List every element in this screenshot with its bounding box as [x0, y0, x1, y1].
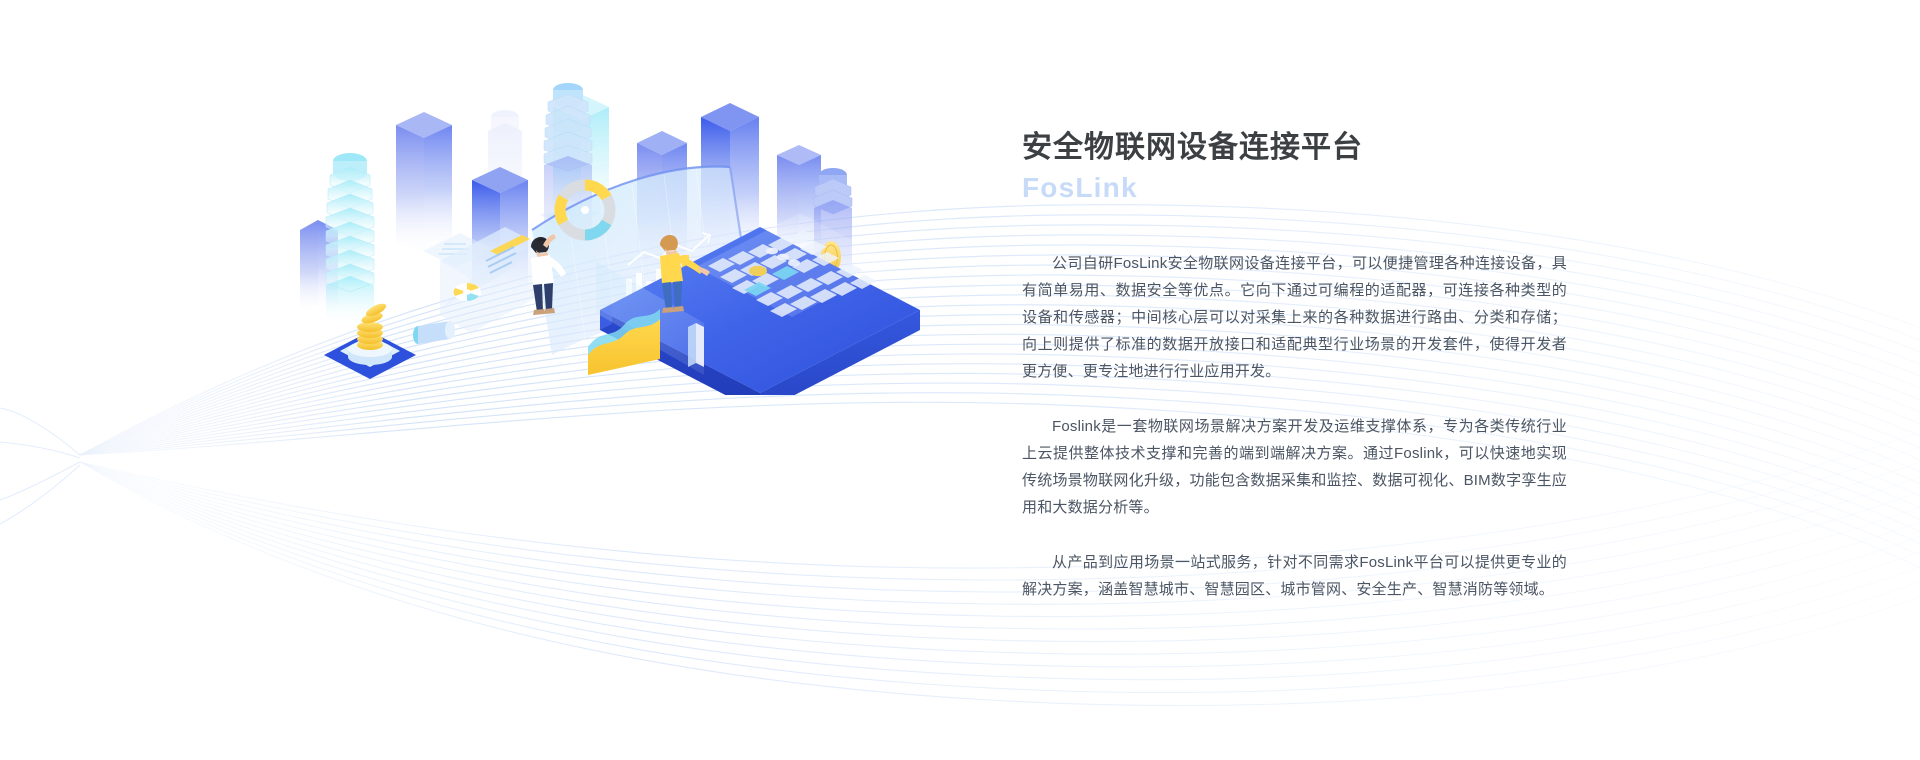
description-paragraph-2: Foslink是一套物联网场景解决方案开发及运维支撑体系，专为各类传统行业上云提… [1022, 413, 1567, 521]
page-subtitle: FosLink [1022, 170, 1567, 206]
hero-illustration [300, 55, 920, 395]
description-paragraph-3: 从产品到应用场景一站式服务，针对不同需求FosLink平台可以提供更专业的解决方… [1022, 549, 1567, 603]
hero-text-column: 安全物联网设备连接平台 FosLink 公司自研FosLink安全物联网设备连接… [1022, 128, 1567, 603]
hero-section: 安全物联网设备连接平台 FosLink 公司自研FosLink安全物联网设备连接… [0, 0, 1920, 760]
background-wave-decoration [0, 0, 1920, 760]
page-title: 安全物联网设备连接平台 [1022, 128, 1567, 168]
description-paragraph-1: 公司自研FosLink安全物联网设备连接平台，可以便捷管理各种连接设备，具有简单… [1022, 250, 1567, 385]
connector-device [413, 321, 455, 344]
